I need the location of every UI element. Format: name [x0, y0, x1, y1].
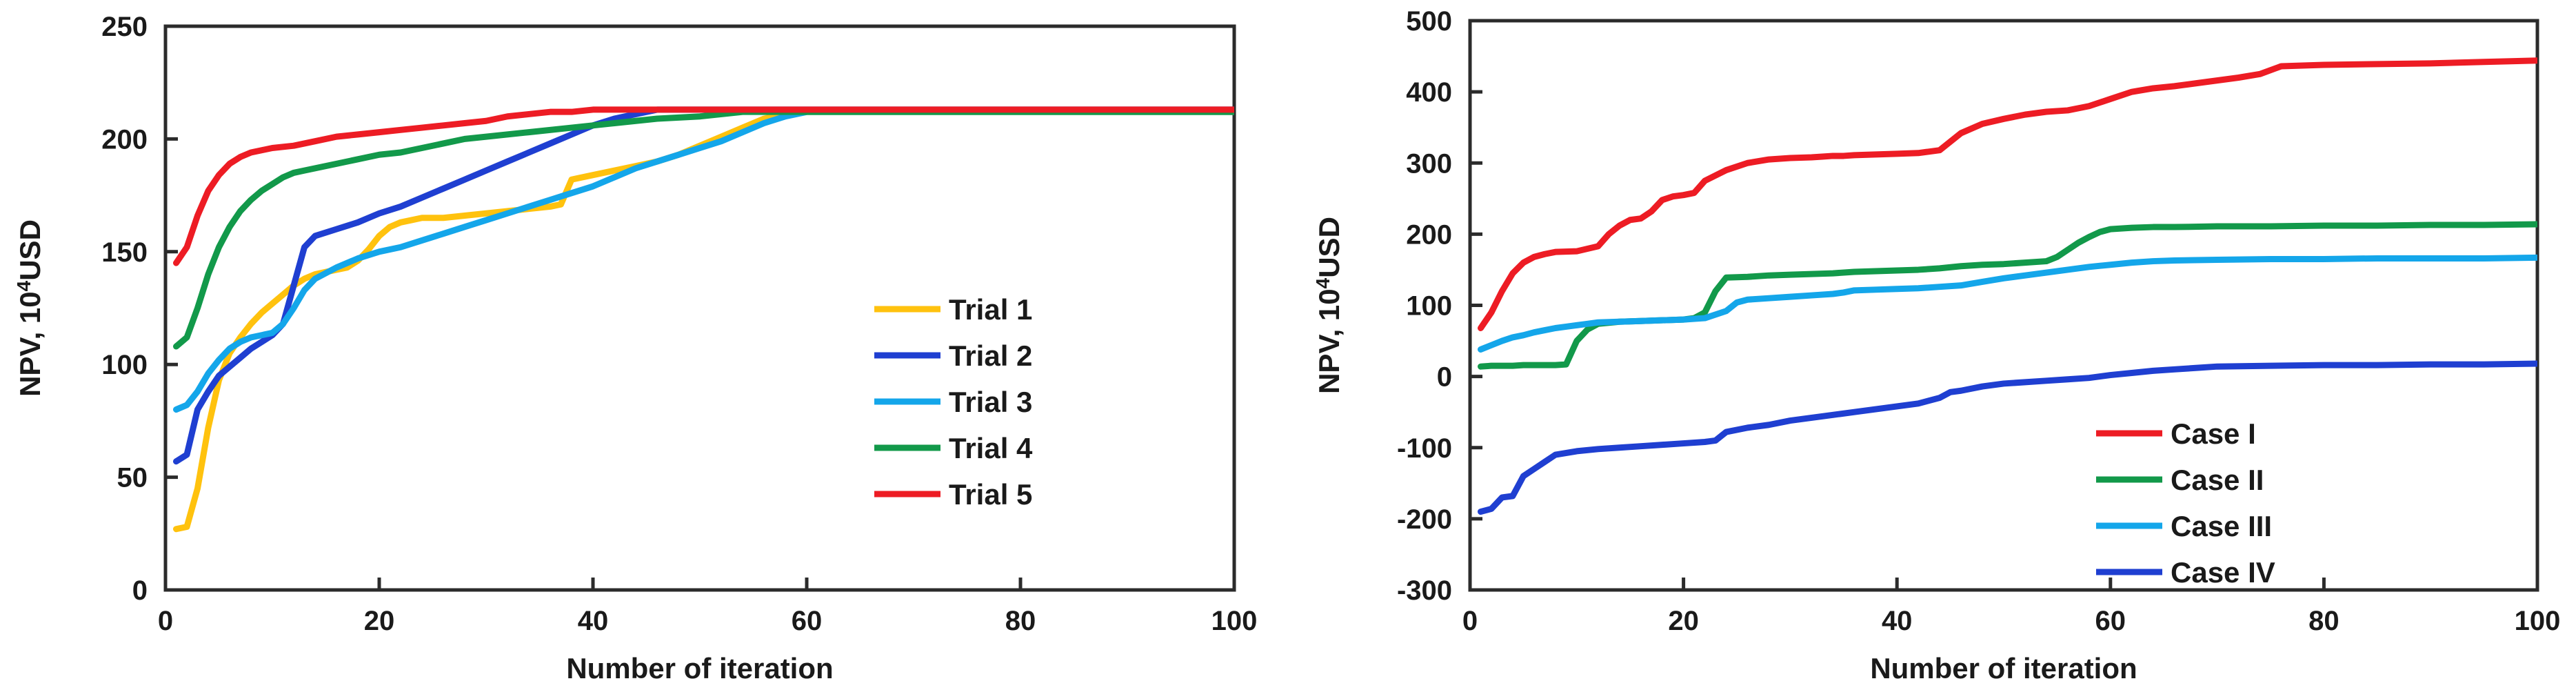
legend-label-case-i: Case I: [2171, 417, 2256, 450]
series-line-trial-5: [177, 110, 1235, 263]
y-axis-title-superscript: 4: [1312, 277, 1334, 288]
x-axis-tick-label: 20: [364, 606, 395, 636]
series-group: [1480, 61, 2537, 512]
series-group: [177, 110, 1235, 529]
series-line-trial-3: [177, 112, 1235, 409]
y-axis-title-base: NPV, 10: [14, 291, 46, 397]
y-axis-title-superscript: 4: [13, 280, 34, 291]
y-axis-title-tail: USD: [1313, 217, 1345, 278]
series-line-trial-1: [177, 112, 1235, 529]
y-axis-tick-label: 100: [101, 350, 148, 380]
y-axis-tick-label: 250: [101, 12, 148, 42]
legend: Case ICase IICase IIICase IV: [2096, 417, 2275, 589]
x-axis-title: Number of iteration: [566, 652, 833, 684]
x-axis-tick-label: 40: [578, 606, 609, 636]
legend-label-trial-1: Trial 1: [949, 293, 1032, 326]
y-axis-tick-label: 0: [1437, 362, 1452, 393]
legend-label-trial-2: Trial 2: [949, 339, 1032, 372]
left-chart-svg: 050100150200250020406080100Number of ite…: [0, 0, 1289, 690]
plot-frame: [1470, 21, 2537, 590]
legend-label-trial-5: Trial 5: [949, 478, 1032, 511]
figure-container: 050100150200250020406080100Number of ite…: [0, 0, 2576, 690]
legend-label-case-iii: Case III: [2171, 510, 2272, 542]
series-line-case-iii: [1480, 257, 2537, 349]
y-axis-tick-label: 200: [1406, 219, 1452, 250]
y-axis-tick-label: 500: [1406, 6, 1452, 37]
series-line-case-ii: [1480, 224, 2537, 366]
x-axis-tick-label: 80: [1005, 606, 1036, 636]
legend-label-case-iv: Case IV: [2171, 556, 2275, 589]
legend: Trial 1Trial 2Trial 3Trial 4Trial 5: [874, 293, 1033, 511]
y-axis-tick-label: -100: [1397, 433, 1452, 464]
legend-label-case-ii: Case II: [2171, 464, 2264, 496]
x-axis-tick-label: 0: [158, 606, 173, 636]
x-axis-tick-label: 100: [1211, 606, 1258, 636]
series-line-case-i: [1480, 61, 2537, 328]
y-axis-tick-label: 150: [101, 237, 148, 268]
chart-panel-right: -300-200-1000100200300400500020406080100…: [1289, 0, 2576, 690]
y-axis-tick-label: 300: [1406, 148, 1452, 179]
legend-label-trial-3: Trial 3: [949, 386, 1032, 418]
x-axis-title: Number of iteration: [1870, 652, 2137, 684]
x-axis-tick-label: 0: [1462, 606, 1478, 636]
y-axis-title: NPV, 104USD: [13, 219, 46, 397]
y-axis-title-text: NPV, 104USD: [13, 219, 46, 397]
y-axis-title-tail: USD: [14, 219, 46, 281]
x-axis-tick-label: 60: [792, 606, 823, 636]
y-axis-tick-label: 400: [1406, 77, 1452, 108]
chart-panel-left: 050100150200250020406080100Number of ite…: [0, 0, 1289, 690]
x-axis-tick-label: 60: [2095, 606, 2126, 636]
y-axis-tick-label: 200: [101, 124, 148, 155]
y-axis-title: NPV, 104USD: [1312, 217, 1345, 394]
y-axis-tick-label: 0: [132, 575, 148, 606]
y-axis-tick-label: 100: [1406, 291, 1452, 322]
y-axis-tick-label: 50: [117, 463, 148, 493]
y-axis-tick-label: -200: [1397, 504, 1452, 535]
y-axis-title-text: NPV, 104USD: [1312, 217, 1345, 394]
x-axis-tick-label: 100: [2515, 606, 2561, 636]
x-axis-tick-label: 80: [2308, 606, 2339, 636]
right-chart-svg: -300-200-1000100200300400500020406080100…: [1289, 0, 2576, 690]
x-axis-tick-label: 40: [1882, 606, 1913, 636]
y-axis-tick-label: -300: [1397, 575, 1452, 606]
series-line-case-iv: [1480, 364, 2537, 512]
y-axis-title-base: NPV, 10: [1313, 288, 1345, 394]
x-axis-tick-label: 20: [1668, 606, 1699, 636]
legend-label-trial-4: Trial 4: [949, 432, 1033, 464]
